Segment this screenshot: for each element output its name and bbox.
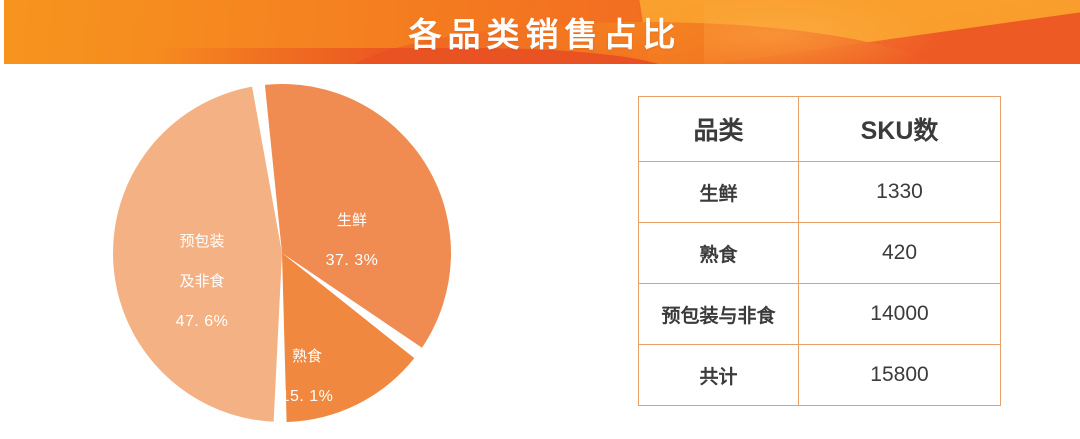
table-header-sku: SKU数 bbox=[799, 97, 1001, 162]
pie-chart-svg bbox=[0, 64, 600, 439]
table-header-category: 品类 bbox=[639, 97, 799, 162]
table-cell-category: 熟食 bbox=[639, 223, 799, 284]
table-row: 共计15800 bbox=[639, 345, 1001, 406]
table-row: 预包装与非食14000 bbox=[639, 284, 1001, 345]
table-cell-category: 生鲜 bbox=[639, 162, 799, 223]
sku-count-table: 品类 SKU数 生鲜1330熟食420预包装与非食14000共计15800 bbox=[638, 96, 1001, 406]
table-cell-sku: 420 bbox=[799, 223, 1001, 284]
table-cell-category: 共计 bbox=[639, 345, 799, 406]
pie-chart: 生鲜 37. 3% 熟食 15. 1% 预包装 及非食 47. 6% bbox=[0, 64, 600, 439]
table-row: 生鲜1330 bbox=[639, 162, 1001, 223]
table-row: 熟食420 bbox=[639, 223, 1001, 284]
page-title: 各品类销售占比 bbox=[4, 0, 1080, 64]
table-cell-category: 预包装与非食 bbox=[639, 284, 799, 345]
pie-slice-group bbox=[113, 84, 451, 422]
pie-slice-2 bbox=[113, 87, 282, 422]
table-header-row: 品类 SKU数 bbox=[639, 97, 1001, 162]
table-cell-sku: 15800 bbox=[799, 345, 1001, 406]
title-banner: 各品类销售占比 bbox=[4, 0, 1080, 64]
table-cell-sku: 1330 bbox=[799, 162, 1001, 223]
table-body: 生鲜1330熟食420预包装与非食14000共计15800 bbox=[639, 162, 1001, 406]
table-cell-sku: 14000 bbox=[799, 284, 1001, 345]
